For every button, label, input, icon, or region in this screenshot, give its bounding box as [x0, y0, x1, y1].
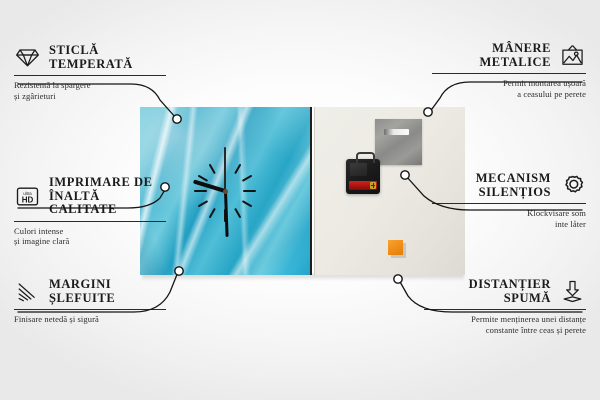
movement-housing-detail	[350, 163, 367, 176]
gear-icon	[559, 173, 586, 198]
callout-title: DISTANȚIER SPUMĂ	[469, 278, 551, 305]
foam-spacer	[388, 240, 403, 255]
callout-subtitle: Finisare netedă și sigură	[14, 314, 166, 325]
svg-text:HD: HD	[22, 195, 34, 204]
product-shadow	[142, 274, 464, 281]
callout-polished-edges[interactable]: MARGINI ȘLEFUITE Finisare netedă și sigu…	[14, 278, 166, 325]
clock-hand-cap	[223, 189, 228, 194]
battery-plus-terminal	[370, 182, 376, 189]
callout-title: MARGINI ȘLEFUITE	[49, 278, 115, 305]
callout-foam-spacer[interactable]: DISTANȚIER SPUMĂ Permite menținerea unei…	[424, 278, 586, 335]
callout-title: STICLĂ TEMPERATĂ	[49, 44, 133, 71]
down-arrow-layer-icon	[559, 279, 586, 304]
clock-face-panel	[140, 107, 312, 275]
clock-movement	[346, 159, 380, 194]
callout-tempered-glass[interactable]: STICLĂ TEMPERATĂ Rezistentă la spargere …	[14, 44, 166, 101]
diagonal-lines-icon	[14, 279, 41, 304]
metal-hanger-plate	[375, 119, 422, 165]
callout-rule	[424, 309, 586, 310]
callout-subtitle: Klockvisare som inte låter	[432, 208, 586, 229]
callout-head: MÂNERE METALICE	[432, 42, 586, 69]
ultra-hd-badge-icon: ultra HD	[14, 184, 41, 209]
picture-frame-hanger-icon	[559, 43, 586, 68]
callout-rule	[432, 203, 586, 204]
callout-subtitle: Permite menținerea unei distanțe constan…	[424, 314, 586, 335]
callout-head: STICLĂ TEMPERATĂ	[14, 44, 166, 71]
callout-rule	[14, 309, 166, 310]
callout-head: DISTANȚIER SPUMĂ	[424, 278, 586, 305]
hanger-keyhole-slot	[384, 129, 409, 135]
callout-title: MÂNERE METALICE	[479, 42, 551, 69]
battery	[349, 181, 377, 190]
callout-subtitle: Permit montarea ușoară a ceasului pe per…	[432, 78, 586, 99]
callout-silent-mech[interactable]: MECANISM SILENȚIOS Klockvisare som inte …	[432, 172, 586, 229]
callout-rule	[14, 75, 166, 76]
diamond-icon	[14, 45, 41, 70]
product-photo	[140, 107, 465, 275]
callout-head: MECANISM SILENȚIOS	[432, 172, 586, 199]
callout-title: MECANISM SILENȚIOS	[476, 172, 551, 199]
callout-metal-hangers[interactable]: MÂNERE METALICE Permit montarea ușoară a…	[432, 42, 586, 99]
callout-subtitle: Rezistentă la spargere și zgârieturi	[14, 80, 166, 101]
callout-head: MARGINI ȘLEFUITE	[14, 278, 166, 305]
clock-dial	[140, 107, 310, 275]
clock-hand-second	[224, 147, 226, 191]
infographic-canvas: STICLĂ TEMPERATĂ Rezistentă la spargere …	[0, 0, 600, 400]
callout-rule	[432, 73, 586, 74]
movement-hanging-loop	[356, 152, 375, 163]
